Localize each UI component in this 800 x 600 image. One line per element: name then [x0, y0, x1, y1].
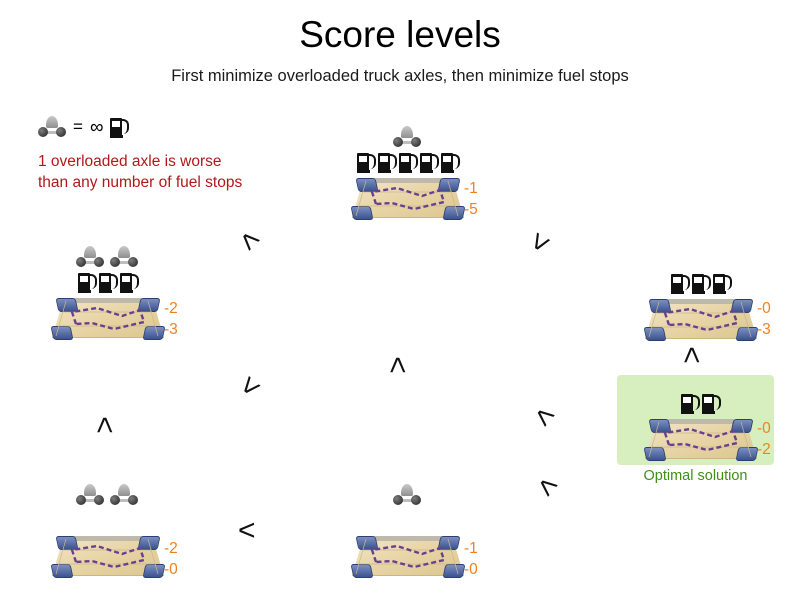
- comparison-operator: <: [676, 346, 706, 364]
- hard-score: -0: [757, 298, 771, 319]
- overloaded-axle-icon: [38, 116, 66, 138]
- fuel-pump-icon: [692, 272, 709, 294]
- score-values: -1 -5: [464, 178, 478, 220]
- solution-node-middle-right: -0 -3: [645, 272, 755, 341]
- solution-node-bottom-left: -2 -0: [52, 484, 162, 578]
- hard-score: -2: [164, 298, 178, 319]
- route-map-icon: [52, 534, 162, 578]
- comparison-operator: <: [234, 371, 268, 404]
- overloaded-axle-icon: [393, 126, 421, 148]
- fuel-pump-icon: [441, 151, 458, 173]
- hard-score: -2: [164, 538, 178, 559]
- fuel-pump-icon: [702, 392, 719, 414]
- soft-score: -0: [464, 559, 478, 580]
- score-values: -0 -3: [757, 298, 771, 340]
- axle-icon-group: [393, 126, 421, 148]
- score-values: -2 -0: [164, 538, 178, 580]
- route-map-icon: [352, 176, 462, 220]
- comparison-operator: <: [238, 516, 256, 546]
- fuel-pump-icon: [399, 151, 416, 173]
- soft-score: -5: [464, 199, 478, 220]
- hard-score: -1: [464, 538, 478, 559]
- score-values: -2 -3: [164, 298, 178, 340]
- overloaded-axle-icon: [393, 484, 421, 506]
- comparison-operator: <: [89, 416, 119, 434]
- comparison-operator: <: [527, 400, 560, 434]
- overloaded-axle-icon: [110, 246, 138, 268]
- soft-score: -3: [164, 319, 178, 340]
- fuel-pump-icon: [378, 151, 395, 173]
- solution-node-optimal: -0 -2: [645, 392, 755, 461]
- comparison-operator: <: [530, 470, 563, 504]
- page-subtitle: First minimize overloaded truck axles, t…: [0, 66, 800, 87]
- legend-warning-text: 1 overloaded axle is worse than any numb…: [38, 152, 242, 193]
- legend-equation: = ∞: [38, 112, 242, 142]
- route-map-icon: [52, 296, 162, 340]
- soft-score: -3: [757, 319, 771, 340]
- fuel-pump-icon: [681, 392, 698, 414]
- fuel-pump-icon: [110, 116, 127, 138]
- infinity-symbol: ∞: [90, 118, 104, 137]
- fuel-pump-icon-group: [681, 392, 719, 414]
- axle-icon-group: [76, 484, 138, 506]
- axle-icon-group: [393, 484, 421, 506]
- comparison-operator: <: [523, 228, 558, 258]
- score-values: -1 -0: [464, 538, 478, 580]
- comparison-operator: <: [382, 356, 412, 374]
- equals-sign: =: [73, 117, 83, 137]
- soft-score: -2: [757, 439, 771, 460]
- solution-node-bottom-center: -1 -0: [352, 484, 462, 578]
- fuel-pump-icon-group: [671, 272, 730, 294]
- route-map-icon: [645, 417, 755, 461]
- overloaded-axle-icon: [76, 246, 104, 268]
- fuel-pump-icon: [99, 271, 116, 293]
- optimal-solution-label: Optimal solution: [617, 468, 774, 484]
- page-title: Score levels: [0, 14, 800, 56]
- fuel-pump-icon: [713, 272, 730, 294]
- overloaded-axle-icon: [110, 484, 138, 506]
- fuel-pump-icon: [78, 271, 95, 293]
- legend: = ∞ 1 overloaded axle is worse than any …: [38, 112, 242, 193]
- hard-score: -0: [757, 418, 771, 439]
- soft-score: -0: [164, 559, 178, 580]
- fuel-pump-icon-group: [78, 271, 137, 293]
- hard-score: -1: [464, 178, 478, 199]
- axle-icon-group: [76, 246, 138, 268]
- route-map-icon: [352, 534, 462, 578]
- fuel-pump-icon: [671, 272, 688, 294]
- fuel-pump-icon: [357, 151, 374, 173]
- solution-node-middle-left: -2 -3: [52, 246, 162, 340]
- overloaded-axle-icon: [76, 484, 104, 506]
- fuel-pump-icon: [420, 151, 437, 173]
- route-map-icon: [645, 297, 755, 341]
- score-values: -0 -2: [757, 418, 771, 460]
- fuel-pump-icon-group: [357, 151, 458, 173]
- solution-node-top-center: -1 -5: [352, 126, 462, 220]
- comparison-operator: <: [232, 224, 266, 258]
- fuel-pump-icon: [120, 271, 137, 293]
